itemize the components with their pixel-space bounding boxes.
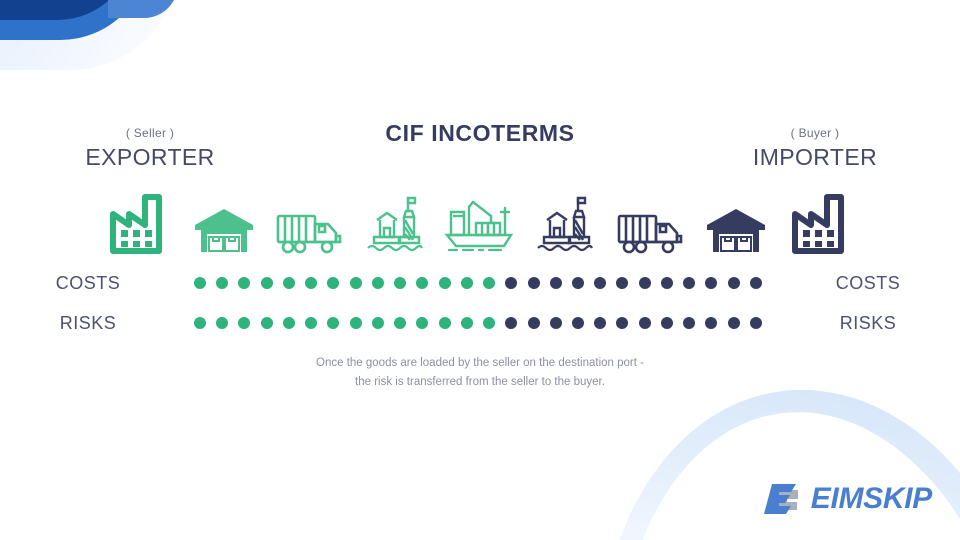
port-icon	[356, 182, 434, 256]
dot-seller	[439, 317, 451, 329]
dot-seller	[461, 317, 473, 329]
dot-seller	[238, 317, 250, 329]
dot-seller	[194, 317, 206, 329]
dot-seller	[461, 277, 473, 289]
dot-buyer	[616, 317, 628, 329]
dot-seller	[350, 277, 362, 289]
dot-buyer	[750, 317, 762, 329]
dot-buyer	[728, 277, 740, 289]
importer-label: IMPORTER	[700, 144, 930, 171]
truck-icon	[612, 182, 690, 256]
dot-seller	[238, 277, 250, 289]
dot-buyer	[572, 317, 584, 329]
corner-shape-medium	[0, 0, 150, 40]
dot-seller	[283, 317, 295, 329]
corner-shape-light	[0, 0, 180, 70]
dot-buyer	[528, 277, 540, 289]
truck-icon	[271, 182, 349, 256]
dot-seller	[261, 317, 273, 329]
importer-sublabel: ( Buyer )	[700, 126, 930, 140]
dot-buyer	[683, 277, 695, 289]
dot-buyer	[528, 317, 540, 329]
dot-buyer	[728, 317, 740, 329]
slide-canvas: CIF INCOTERMS ( Seller ) EXPORTER ( Buye…	[0, 0, 960, 540]
risks-label-left: RISKS	[0, 313, 188, 334]
dot-buyer	[594, 317, 606, 329]
corner-decoration-top-left	[0, 0, 300, 140]
eimskip-logo-text: EIMSKIP	[811, 482, 932, 516]
dot-seller	[327, 317, 339, 329]
dot-buyer	[639, 317, 651, 329]
dot-buyer	[505, 317, 517, 329]
dot-buyer	[550, 277, 562, 289]
dot-buyer	[705, 317, 717, 329]
dot-seller	[305, 277, 317, 289]
eimskip-logo-mark	[760, 478, 802, 520]
dot-buyer	[616, 277, 628, 289]
dot-seller	[394, 317, 406, 329]
dot-buyer	[550, 317, 562, 329]
corner-shape-accent	[108, 0, 178, 18]
risks-dot-track	[188, 317, 768, 329]
dot-seller	[372, 317, 384, 329]
risks-row: RISKS RISKS	[0, 310, 960, 336]
dot-seller	[194, 277, 206, 289]
dot-buyer	[705, 277, 717, 289]
dot-buyer	[572, 277, 584, 289]
dot-seller	[483, 317, 495, 329]
factory-icon	[782, 182, 860, 256]
dot-seller	[416, 277, 428, 289]
dot-seller	[372, 277, 384, 289]
port-icon	[526, 182, 604, 256]
exporter-sublabel: ( Seller )	[35, 126, 265, 140]
caption-line-1: Once the goods are loaded by the seller …	[0, 354, 960, 373]
costs-row: COSTS COSTS	[0, 270, 960, 296]
warehouse-icon	[697, 182, 775, 256]
factory-icon	[100, 182, 178, 256]
transport-chain-icons	[100, 182, 860, 256]
dot-seller	[416, 317, 428, 329]
dot-buyer	[750, 277, 762, 289]
dot-seller	[305, 317, 317, 329]
dot-seller	[483, 277, 495, 289]
dot-buyer	[594, 277, 606, 289]
cargo-ship-icon	[441, 182, 519, 256]
risks-label-right: RISKS	[768, 313, 960, 334]
dot-seller	[283, 277, 295, 289]
caption: Once the goods are loaded by the seller …	[0, 354, 960, 392]
dot-seller	[394, 277, 406, 289]
exporter-heading: ( Seller ) EXPORTER	[35, 126, 265, 171]
caption-line-2: the risk is transferred from the seller …	[0, 373, 960, 392]
costs-label-left: COSTS	[0, 273, 188, 294]
dot-seller	[350, 317, 362, 329]
dot-seller	[216, 277, 228, 289]
importer-heading: ( Buyer ) IMPORTER	[700, 126, 930, 171]
dot-seller	[327, 277, 339, 289]
dot-buyer	[683, 317, 695, 329]
costs-dot-track	[188, 277, 768, 289]
exporter-label: EXPORTER	[35, 144, 265, 171]
dot-seller	[216, 317, 228, 329]
warehouse-icon	[185, 182, 263, 256]
dot-seller	[261, 277, 273, 289]
dot-buyer	[639, 277, 651, 289]
costs-label-right: COSTS	[768, 273, 960, 294]
corner-shape-dark	[0, 0, 135, 20]
dot-seller	[439, 277, 451, 289]
dot-buyer	[661, 317, 673, 329]
dot-buyer	[661, 277, 673, 289]
dot-buyer	[505, 277, 517, 289]
eimskip-logo: EIMSKIP	[760, 478, 932, 520]
